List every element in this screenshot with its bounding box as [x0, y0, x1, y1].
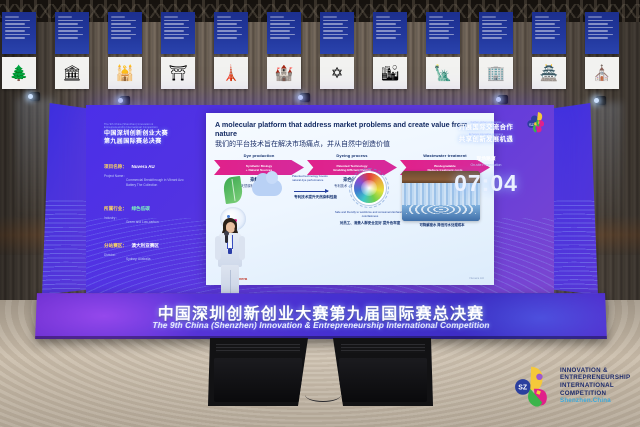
safety-note-en: Safe and friendly to workforce and consu… [330, 211, 410, 219]
hanging-banner: 🏰 [267, 12, 301, 89]
timer-panel: Further global conferences 开展国际交流合作 Enha… [432, 121, 540, 197]
competition-title-cn-line2: 第九届国际赛总决赛 [104, 138, 220, 146]
banner-city-card: 🌲 [2, 57, 36, 89]
banner-blue-top [426, 12, 460, 54]
hanging-banner: 🏙 [373, 12, 407, 89]
svg-text:SZ: SZ [518, 385, 528, 392]
session-label-en: On-site Presentation [432, 163, 540, 167]
banner-city-card: 🏛 [55, 57, 89, 89]
led-video-wall: The 9th China (Shenzhen) Innovation & En… [42, 103, 598, 295]
speaker-grill [216, 344, 300, 353]
process-arrow-icon [294, 191, 328, 192]
intl-slogan-cn-2: 共享创新发展机遇 [432, 136, 540, 145]
city-landmark-icon: 🏰 [275, 66, 294, 81]
hanging-banner: 🗼 [214, 12, 248, 89]
hanging-banner: ⛪ [585, 12, 619, 89]
column-title-en: Dyeing process [307, 153, 397, 158]
logo-line-1: INNOVATION & [560, 367, 630, 375]
logo-line-3: INTERNATIONAL [560, 382, 630, 390]
hanging-banner: ⛩ [161, 12, 195, 89]
sz-pinwheel-logo-icon: SZ [510, 363, 556, 409]
slide-footer-right: Nuvera AU [469, 276, 484, 280]
banner-blue-top [214, 12, 248, 54]
stage-monitor-right [333, 338, 433, 406]
speaker-grill [341, 344, 425, 353]
wastewater-note-cn: 可降解废水 降低污水处理成本 [396, 223, 488, 227]
banner-city-card: 🏢 [479, 57, 513, 89]
hanging-banner-row: 🌲🏛🕌⛩🗼🏰✡🏙🗽🏢🏯⛪ [0, 12, 640, 92]
banner-bottom-edge [35, 336, 607, 339]
banner-city-card: ✡ [320, 57, 354, 89]
banner-city-card: 🏙 [373, 57, 407, 89]
hanging-banner: ✡ [320, 12, 354, 89]
banner-blue-top [161, 12, 195, 54]
banner-city-card: 🏰 [267, 57, 301, 89]
speaker-face [339, 358, 427, 402]
banner-city-card: 🏯 [532, 57, 566, 89]
logo-line-2: ENTREPRENEURSHIP [560, 374, 630, 382]
industry-block: 所属行业： 绿色低碳 Industry： Green and Low-carbo… [104, 197, 220, 225]
microphone-icon [225, 234, 228, 243]
intl-slogan-cn-1: 开展国际交流合作 [432, 124, 540, 133]
cloud-icon [252, 179, 282, 196]
banner-blue-top [267, 12, 301, 54]
city-landmark-icon: 🏛 [62, 66, 81, 81]
hanging-banner: 🏛 [55, 12, 89, 89]
led-main-panel: The 9th China (Shenzhen) Innovation & En… [86, 105, 554, 293]
color-wheel-icon [354, 173, 384, 203]
led-panel-right-wing [550, 103, 598, 295]
banner-city-card: 🗽 [426, 57, 460, 89]
logo-line-4: COMPETITION [560, 390, 630, 398]
presenter-arm-left [215, 236, 221, 260]
hanging-banner: 🗽 [426, 12, 460, 89]
city-landmark-icon: 🗽 [434, 66, 453, 81]
project-info-panel: The 9th China (Shenzhen) Innovation & En… [104, 123, 220, 262]
event-title-en: The 9th China (Shenzhen) Innovation & En… [35, 320, 606, 330]
banner-blue-top [532, 12, 566, 54]
project-name-block: 项目名称： Nuvera AU Project Name： Commercial… [104, 155, 220, 188]
banner-blue-top [479, 12, 513, 54]
city-landmark-icon: 🏯 [540, 66, 559, 81]
speaker-cable [305, 388, 341, 402]
speaker-face [214, 358, 302, 402]
patent-note-en: Patented technology boosts natural dye p… [292, 175, 332, 183]
industry-value-cn: 绿色低碳 [131, 206, 149, 211]
venue-scene: 🌲🏛🕌⛩🗼🏰✡🏙🗽🏢🏯⛪ The 9th China (Shenzhen) In… [0, 0, 640, 427]
hanging-banner: 🏢 [479, 12, 513, 89]
banner-blue-top [373, 12, 407, 54]
city-landmark-icon: 🌲 [10, 66, 29, 81]
project-name-label-cn: 项目名称： [104, 164, 127, 170]
region-block: 分站赛区： 澳大利亚赛区 Division： Sydney, Australia [104, 234, 220, 262]
region-value-cn: 澳大利亚赛区 [131, 243, 159, 248]
column-title-en: Dye production [214, 153, 304, 158]
presenter [213, 218, 247, 298]
patent-note-cn: 专利技术提升天然染料性能 [294, 195, 337, 200]
banner-blue-top [2, 12, 36, 54]
banner-city-card: ⛩ [161, 57, 195, 89]
stage-monitor-left [208, 338, 308, 406]
presenter-arm-right [239, 236, 245, 260]
column-arrow-banner: Patented Technology Enabling Efficient D… [307, 160, 397, 175]
presenter-badge [228, 248, 232, 254]
city-landmark-icon: 🗼 [222, 66, 241, 81]
photo-foam [406, 205, 476, 214]
banner-blue-top [585, 12, 619, 54]
spotlight-icon [300, 93, 310, 102]
city-landmark-icon: ✡ [331, 66, 344, 81]
competition-title-cn-line1: 中国深圳创新创业大赛 [104, 130, 220, 138]
city-landmark-icon: 🏢 [487, 66, 506, 81]
banner-city-card: ⛪ [585, 57, 619, 89]
corner-logo-text: INNOVATION & ENTREPRENEURSHIP INTERNATIO… [560, 367, 630, 405]
banner-city-card: 🕌 [108, 57, 142, 89]
hanging-banner: 🏯 [532, 12, 566, 89]
industry-label-cn: 所属行业： [104, 206, 127, 212]
countdown-timer: 07:04 [432, 170, 540, 197]
banner-city-card: 🗼 [214, 57, 248, 89]
banner-blue-top [108, 12, 142, 54]
city-landmark-icon: 🕌 [116, 66, 135, 81]
competition-logo-icon-right [528, 109, 548, 129]
city-landmark-icon: 🏙 [380, 66, 399, 81]
banner-blue-top [320, 12, 354, 54]
city-landmark-icon: ⛪ [593, 66, 612, 81]
project-name-value: Nuvera AU [131, 164, 154, 169]
hanging-banner: 🕌 [108, 12, 142, 89]
leaf-icon [222, 176, 243, 204]
banner-blue-top [55, 12, 89, 54]
logo-location: Shenzhen.China [560, 397, 630, 405]
region-label-cn: 分站赛区： [104, 243, 127, 249]
hanging-banner: 🌲 [2, 12, 36, 89]
city-landmark-icon: ⛩ [168, 66, 187, 81]
session-label-cn: 现场路演 [432, 155, 540, 162]
stage-front-banner: 中国深圳创新创业大赛第九届国际赛总决赛 The 9th China (Shenz… [35, 293, 607, 339]
corner-competition-logo: SZ INNOVATION & ENTREPRENEURSHIP INTERNA… [510, 357, 632, 415]
led-panel-left-wing [42, 103, 90, 295]
